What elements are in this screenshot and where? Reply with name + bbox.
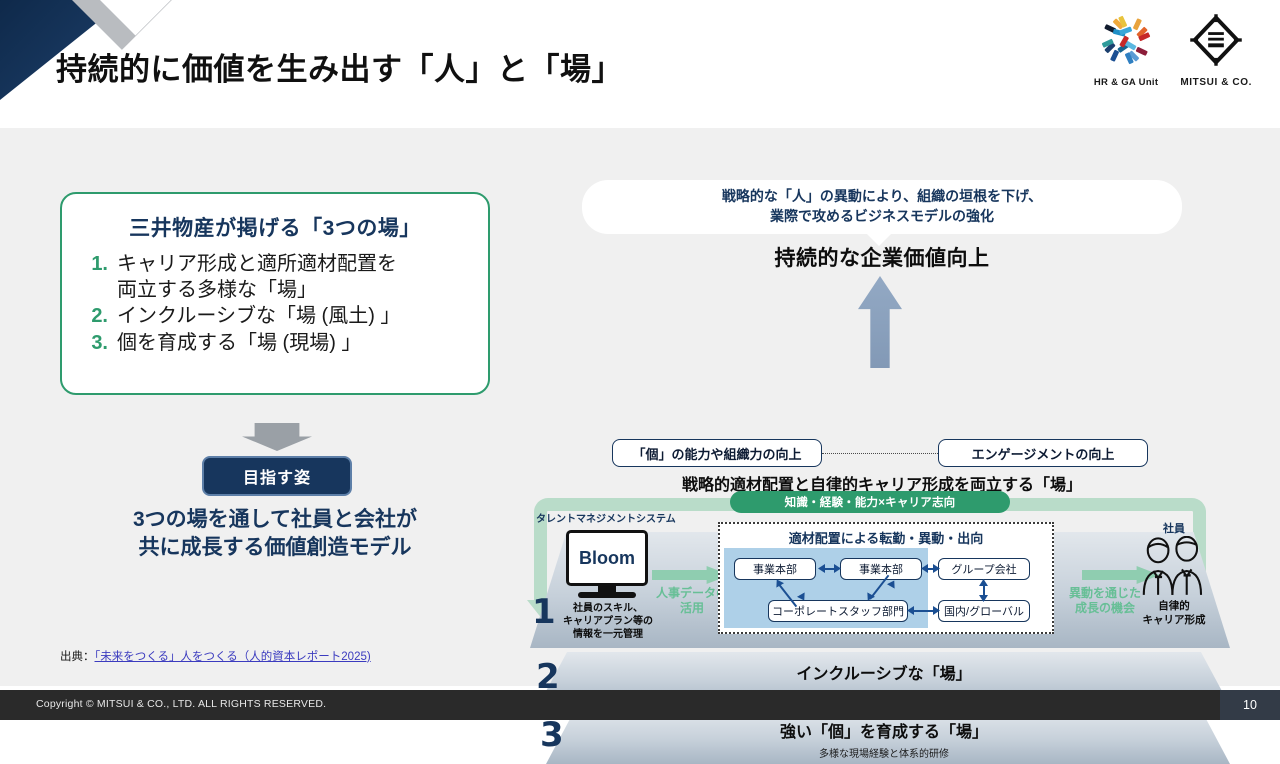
strategy-callout: 戦略的な「人」の異動により、組織の垣根を下げ、 業際で攻めるビジネスモデルの強化	[582, 180, 1182, 234]
employee-caption: 自律的 キャリア形成	[1118, 600, 1230, 627]
source-link[interactable]: 「未来をつくる」人をつくる（人的資本レポート2025)	[95, 651, 371, 663]
employees-icon	[1126, 536, 1222, 598]
mitsui-logo-block: MITSUI & CO.	[1180, 12, 1252, 88]
unit-box-division-1: 事業本部	[734, 558, 816, 580]
slide-header: 持続的に価値を生み出す「人」と「場」	[0, 0, 1280, 128]
hr-ga-logo-caption: HR & GA Unit	[1094, 77, 1158, 88]
layer-3-subtitle: 多様な現場経験と体系的研修	[538, 745, 1230, 760]
knowledge-pill: 知識・経験・能力×キャリア志向	[730, 491, 1010, 513]
source-prefix: 出典：	[60, 651, 95, 663]
layer-2-title: インクルーシブな「場」	[538, 660, 1230, 684]
monitor-base	[578, 592, 636, 598]
layer-3-title: 強い「個」を育成する「場」	[538, 718, 1230, 742]
goal-statement: 3つの場を通して社員と会社が 共に成長する価値創造モデル	[60, 506, 490, 563]
unit-box-corporate-staff: コーポレートスタッフ部門	[768, 600, 908, 622]
list-item: 3. 個を育成する「場 (現場) 」	[84, 331, 488, 357]
kpi-title: 持続的な企業価値向上	[582, 242, 1182, 272]
kpi-box-capability: 「個」の能力や組織力の向上	[612, 439, 822, 467]
list-item-label: インクルーシブな「場 (風土) 」	[117, 304, 400, 330]
unit-box-division-2: 事業本部	[840, 558, 922, 580]
logo-area: HR & GA Unit	[1094, 12, 1252, 88]
list-item-number: 3.	[84, 331, 108, 357]
list-item: 1. キャリア形成と適所適材配置を 両立する多様な「場」	[84, 252, 488, 303]
unit-box-domestic-global: 国内/グローバル	[938, 600, 1030, 622]
list-item-number: 2.	[84, 304, 108, 330]
goal-badge: 目指す姿	[202, 456, 352, 496]
page-number: 10	[1243, 698, 1257, 712]
page-number-box: 10	[1220, 690, 1280, 720]
value-creation-diagram: 戦略的な「人」の異動により、組織の垣根を下げ、 業際で攻めるビジネスモデルの強化…	[510, 180, 1250, 680]
list-item-label: キャリア形成と適所適材配置を 両立する多様な「場」	[117, 252, 397, 303]
up-arrow-icon	[858, 276, 902, 368]
three-places-card: 三井物産が掲げる「3つの場」 1. キャリア形成と適所適材配置を 両立する多様な…	[60, 192, 490, 395]
unit-box-group-company: グループ会社	[938, 558, 1030, 580]
source-line: 出典：「未来をつくる」人をつくる（人的資本レポート2025)	[60, 648, 371, 664]
pinwheel-icon	[1095, 12, 1157, 73]
slide-footer: Copyright © MITSUI & CO., LTD. ALL RIGHT…	[0, 690, 1280, 720]
kpi-box-engagement: エンゲージメントの向上	[938, 439, 1148, 467]
three-places-list: 1. キャリア形成と適所適材配置を 両立する多様な「場」 2. インクルーシブな…	[84, 252, 488, 356]
tms-label: タレントマネジメントシステム	[536, 510, 676, 525]
bloom-monitor-icon: Bloom	[566, 530, 648, 586]
mitsui-diamond-icon	[1185, 12, 1247, 73]
slide-body: 三井物産が掲げる「3つの場」 1. キャリア形成と適所適材配置を 両立する多様な…	[0, 128, 1280, 686]
placement-group-title: 適材配置による転勤・異動・出向	[718, 528, 1054, 547]
list-item-number: 1.	[84, 252, 108, 278]
page-title: 持続的に価値を生み出す「人」と「場」	[56, 44, 623, 89]
kpi-dotted-connector	[822, 453, 938, 454]
three-places-title: 三井物産が掲げる「3つの場」	[62, 212, 488, 242]
mitsui-logo-caption: MITSUI & CO.	[1180, 77, 1252, 88]
hr-ga-logo-block: HR & GA Unit	[1094, 12, 1158, 88]
down-arrow-icon	[242, 423, 312, 451]
employee-label: 社員	[1126, 520, 1222, 536]
list-item: 2. インクルーシブな「場 (風土) 」	[84, 304, 488, 330]
copyright-text: Copyright © MITSUI & CO., LTD. ALL RIGHT…	[36, 698, 326, 710]
layer-3-label: 強い「個」を育成する「場」 多様な現場経験と体系的研修	[538, 718, 1230, 760]
list-item-label: 個を育成する「場 (現場) 」	[117, 331, 361, 357]
